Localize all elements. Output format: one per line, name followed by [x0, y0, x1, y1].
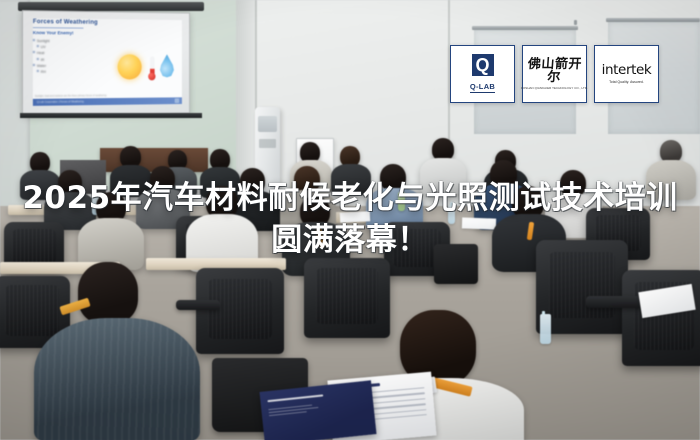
presentation-slide: Forces of Weathering Know Your Enemy! Su…: [33, 18, 182, 106]
logo-card-qlab: Q Q-LAB: [450, 45, 515, 103]
intertek-tagline: Total Quality. Assured.: [602, 81, 652, 84]
headline-line-2: 圆满落幕！: [0, 220, 700, 260]
slide-bullet: UV: [37, 45, 182, 50]
logo-card-foshan-qiankaier: 佛山箭开尔 FOSHAN QIANKAIER TECHNOLOGY CO., L…: [522, 45, 587, 103]
foshan-wordmark-cn: 佛山箭开尔: [520, 58, 589, 84]
brochure: [259, 380, 376, 440]
slide-subtitle: Know Your Enemy!: [33, 30, 182, 36]
office-chair: [196, 268, 284, 354]
slide-bullet-label: IR: [41, 58, 45, 62]
slide-bullet: Water: [33, 64, 182, 68]
brochure-heading: [267, 394, 323, 404]
foshan-wordmark-en: FOSHAN QIANKAIER TECHNOLOGY CO., LTD.: [521, 87, 588, 90]
slide-bullet: Sunlight: [33, 39, 182, 44]
slide-bullet: IR: [37, 58, 182, 62]
sun-icon: [118, 54, 142, 79]
slide-bullet-label: RH: [41, 70, 46, 74]
slide-footer-bar: Q-Lab Corporation | Forces of Weathering: [33, 97, 182, 106]
headline: 2025年汽车材料耐候老化与光照测试技术培训 圆满落幕！: [0, 178, 700, 260]
projector-screen-weight-bar: [20, 113, 202, 118]
chair-armrest: [586, 296, 646, 308]
intertek-wordmark: intertek: [602, 64, 652, 78]
projection-screen: Forces of Weathering Know Your Enemy! Su…: [22, 10, 190, 116]
slide-logo-mark: [175, 98, 180, 103]
logo-bar: Q Q-LAB 佛山箭开尔 FOSHAN QIANKAIER TECHNOLOG…: [450, 45, 659, 103]
thermometer-icon: [150, 56, 155, 77]
slide-bullet: Heat: [33, 51, 182, 55]
water-bottle: [540, 314, 551, 344]
chair-armrest: [176, 300, 220, 310]
qlab-mark: Q: [472, 54, 494, 76]
office-chair: [304, 258, 390, 338]
slide-bullet-label: Heat: [37, 51, 44, 55]
slide-bullet-label: Water: [37, 64, 46, 68]
blind-knob: [574, 20, 577, 25]
slide-bullet-list: Sunlight UV Heat IR Water RH: [33, 39, 182, 75]
logo-card-intertek: intertek Total Quality. Assured.: [594, 45, 659, 103]
event-banner: Forces of Weathering Know Your Enemy! Su…: [0, 0, 700, 440]
slide-divider: [33, 27, 84, 29]
qlab-wordmark: Q-LAB: [470, 82, 495, 93]
headline-line-1: 2025年汽车材料耐候老化与光照测试技术培训: [0, 178, 700, 218]
slide-bullet-label: Sunlight: [37, 39, 50, 43]
brochure-body-lines: [268, 404, 319, 418]
slide-footer-text: Q-Lab Corporation | Forces of Weathering: [37, 100, 84, 104]
slide-bullet-label: UV: [41, 45, 46, 49]
slide-bullet: RH: [37, 70, 182, 74]
slide-title: Forces of Weathering: [33, 18, 182, 27]
